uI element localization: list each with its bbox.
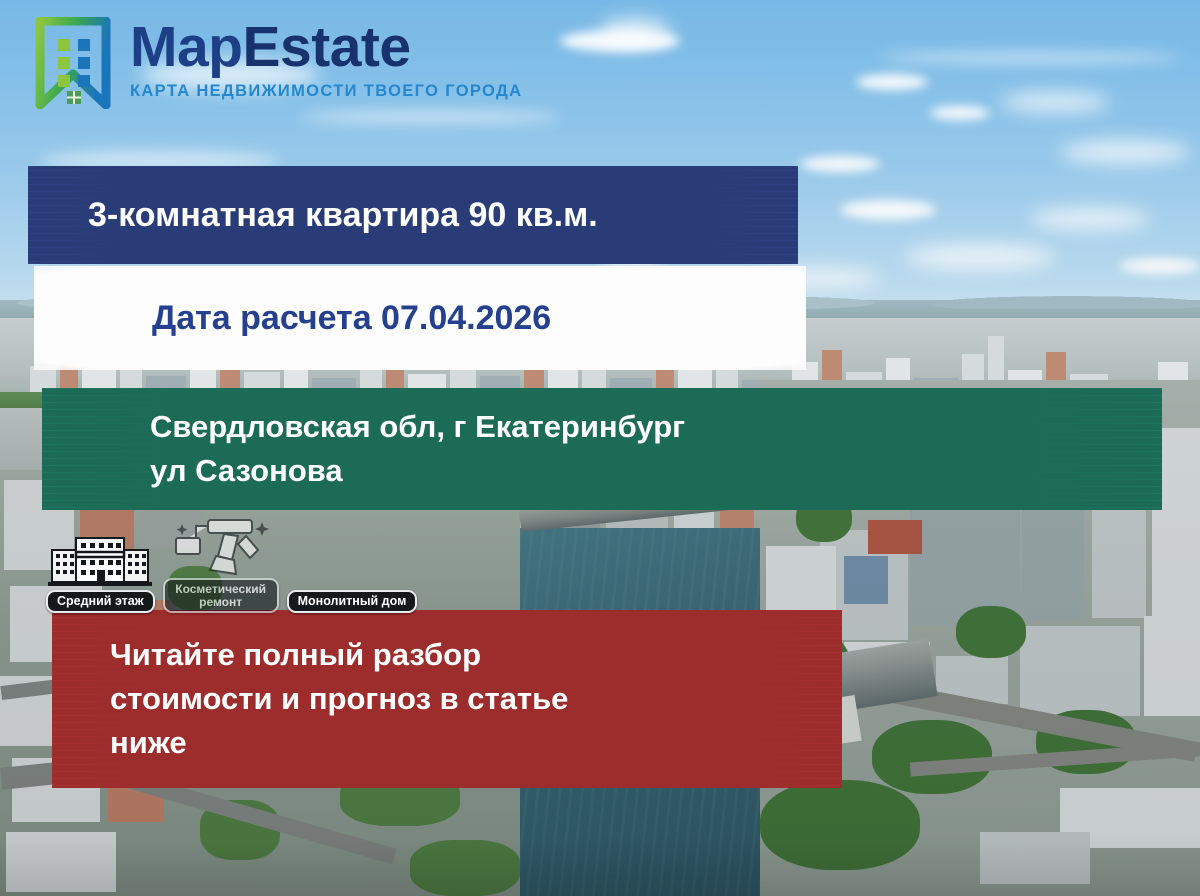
apartment-building-icon: [48, 532, 152, 588]
badge-label-monolithic-house: Монолитный дом: [287, 590, 418, 613]
bookmark-building-icon: [34, 17, 112, 109]
banner-address-text: Свердловская обл, г Екатеринбург ул Сазо…: [42, 405, 685, 493]
badge-label-average-floor: Средний этаж: [46, 590, 155, 613]
cta-line-3: ниже: [110, 721, 568, 765]
banner-date: Дата расчета 07.04.2026: [34, 266, 806, 370]
cta-line-1: Читайте полный разбор: [110, 633, 568, 677]
banner-address: Свердловская обл, г Екатеринбург ул Сазо…: [42, 388, 1162, 510]
cta-line-2: стоимости и прогноз в статье: [110, 677, 568, 721]
banner-apartment: 3-комнатная квартира 90 кв.м.: [28, 166, 798, 264]
banner-cta: Читайте полный разбор стоимости и прогно…: [52, 610, 842, 788]
badge-average-floor: Средний этаж: [46, 532, 155, 613]
banner-cta-text: Читайте полный разбор стоимости и прогно…: [52, 633, 568, 765]
brand-tagline: КАРТА НЕДВИЖИМОСТИ ТВОЕГО ГОРОДА: [130, 82, 522, 101]
brand-name: MapEstate: [130, 19, 522, 76]
badge-label-cosmetic-renovation: Косметический ремонт: [163, 578, 279, 613]
badge-cosmetic-renovation: Косметический ремонт: [163, 520, 279, 613]
banner-date-text: Дата расчета 07.04.2026: [34, 299, 551, 338]
address-line-2: ул Сазонова: [150, 449, 685, 493]
poster-root: MapEstate КАРТА НЕДВИЖИМОСТИ ТВОЕГО ГОРО…: [0, 0, 1200, 896]
banner-apartment-text: 3-комнатная квартира 90 кв.м.: [28, 196, 598, 235]
monolithic-house-icon: [317, 532, 387, 588]
address-line-1: Свердловская обл, г Екатеринбург: [150, 405, 685, 449]
brand-logo[interactable]: MapEstate КАРТА НЕДВИЖИМОСТИ ТВОЕГО ГОРО…: [34, 17, 522, 109]
badge-monolithic-house: Монолитный дом: [287, 532, 418, 613]
feature-badges: Средний этаж: [46, 520, 417, 613]
brand-name-estate: Estate: [243, 15, 411, 79]
brand-name-map: Map: [130, 15, 243, 79]
paint-roller-brush-icon: [166, 520, 276, 576]
